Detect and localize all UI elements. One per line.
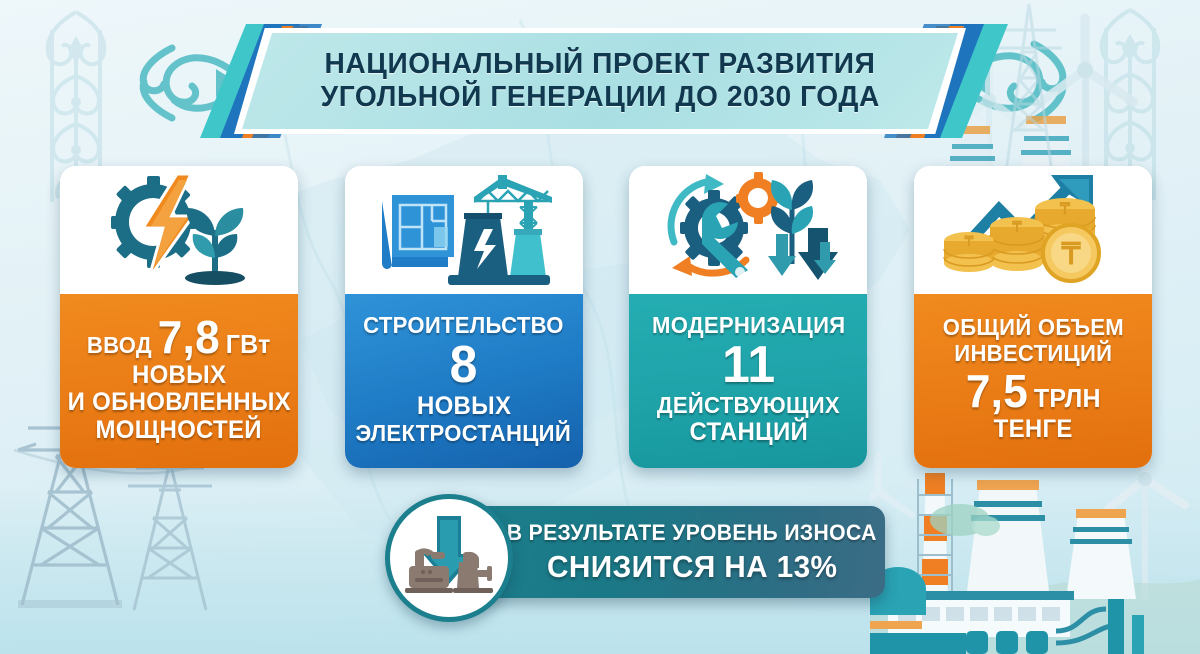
title-text-container: НАЦИОНАЛЬНЫЙ ПРОЕКТ РАЗВИТИЯ УГОЛЬНОЙ ГЕ… <box>242 33 958 129</box>
card-value: 7,8 <box>158 316 220 360</box>
card-line-4: МОЩНОСТЕЙ <box>96 418 262 443</box>
card-headline: ВВОД 7,8 ГВт <box>87 316 271 360</box>
card-investment[interactable]: ₸ ₸ <box>914 166 1152 468</box>
card-body: ВВОД 7,8 ГВт НОВЫХ И ОБНОВЛЕННЫХ МОЩНОСТ… <box>60 294 298 468</box>
card-line-1: МОДЕРНИЗАЦИЯ <box>652 314 845 337</box>
card-line-2: ДЕЙСТВУЮЩИХ <box>657 394 840 417</box>
card-line-2: НОВЫХ <box>132 363 226 388</box>
blueprint-crane-powerplant-icon <box>374 171 554 289</box>
card-icon-container <box>629 166 867 294</box>
card-line-1: СТРОИТЕЛЬСТВО <box>363 314 564 337</box>
card-headline: 7,5 ТРЛН <box>965 370 1100 414</box>
down-arrow-old-machinery-icon <box>401 514 497 602</box>
card-line-3: ТЕНГЕ <box>993 417 1072 442</box>
footer-icon-circle <box>385 494 513 622</box>
power-pylon-icon <box>120 448 260 628</box>
card-icon-container: ₸ ₸ <box>914 166 1152 294</box>
title-line-2: УГОЛЬНОЙ ГЕНЕРАЦИИ ДО 2030 ГОДА <box>320 82 879 113</box>
card-icon-container <box>60 166 298 294</box>
title-line-1: НАЦИОНАЛЬНЫЙ ПРОЕКТ РАЗВИТИЯ <box>325 49 876 80</box>
bush-decoration <box>930 482 1000 536</box>
card-line-3: СТАНЦИЙ <box>689 420 808 445</box>
card-body: СТРОИТЕЛЬСТВО 8 НОВЫХ ЭЛЕКТРОСТАНЦИЙ <box>345 294 583 468</box>
footer-line-2: СНИЗИТСЯ НА 13% <box>547 549 837 585</box>
title-banner: НАЦИОНАЛЬНЫЙ ПРОЕКТ РАЗВИТИЯ УГОЛЬНОЙ ГЕ… <box>172 22 1028 140</box>
growth-arrow-coins-tenge-icon: ₸ ₸ <box>943 171 1123 289</box>
gear-wrench-leaf-arrows-icon <box>658 172 838 288</box>
card-commissioning[interactable]: ВВОД 7,8 ГВт НОВЫХ И ОБНОВЛЕННЫХ МОЩНОСТ… <box>60 166 298 468</box>
card-construction[interactable]: СТРОИТЕЛЬСТВО 8 НОВЫХ ЭЛЕКТРОСТАНЦИЙ <box>345 166 583 468</box>
svg-text:₸: ₸ <box>1060 238 1081 271</box>
card-line-2: ИНВЕСТИЦИЙ <box>954 342 1112 365</box>
gear-lightning-plant-icon <box>99 174 259 286</box>
card-unit: ТРЛН <box>1033 386 1100 411</box>
cards-row: ВВОД 7,8 ГВт НОВЫХ И ОБНОВЛЕННЫХ МОЩНОСТ… <box>60 166 1152 468</box>
footer-line-1: В РЕЗУЛЬТАТЕ УРОВЕНЬ ИЗНОСА <box>507 520 877 546</box>
card-line-3: ЭЛЕКТРОСТАНЦИЙ <box>356 422 572 445</box>
card-modernization[interactable]: МОДЕРНИЗАЦИЯ 11 ДЕЙСТВУЮЩИХ СТАНЦИЙ <box>629 166 867 468</box>
card-line-2: НОВЫХ <box>417 394 511 419</box>
card-prefix: ВВОД <box>87 334 152 357</box>
power-plant-illustration <box>870 439 1200 654</box>
infographic-poster: НАЦИОНАЛЬНЫЙ ПРОЕКТ РАЗВИТИЯ УГОЛЬНОЙ ГЕ… <box>0 0 1200 654</box>
card-body: МОДЕРНИЗАЦИЯ 11 ДЕЙСТВУЮЩИХ СТАНЦИЙ <box>629 294 867 468</box>
card-value: 11 <box>722 339 775 391</box>
card-icon-container <box>345 166 583 294</box>
svg-text:₸: ₸ <box>964 233 975 249</box>
card-line-3: И ОБНОВЛЕННЫХ <box>67 390 290 415</box>
footer-banner: В РЕЗУЛЬТАТЕ УРОВЕНЬ ИЗНОСА СНИЗИТСЯ НА … <box>385 494 885 624</box>
card-body: ОБЩИЙ ОБЪЕМ ИНВЕСТИЦИЙ 7,5 ТРЛН ТЕНГЕ <box>914 294 1152 468</box>
card-line-1: ОБЩИЙ ОБЪЕМ <box>942 316 1123 339</box>
card-unit: ГВт <box>226 332 271 357</box>
svg-text:₸: ₸ <box>1059 201 1071 218</box>
card-value: 8 <box>450 339 478 391</box>
svg-text:₸: ₸ <box>1011 219 1022 236</box>
card-value: 7,5 <box>965 370 1027 414</box>
